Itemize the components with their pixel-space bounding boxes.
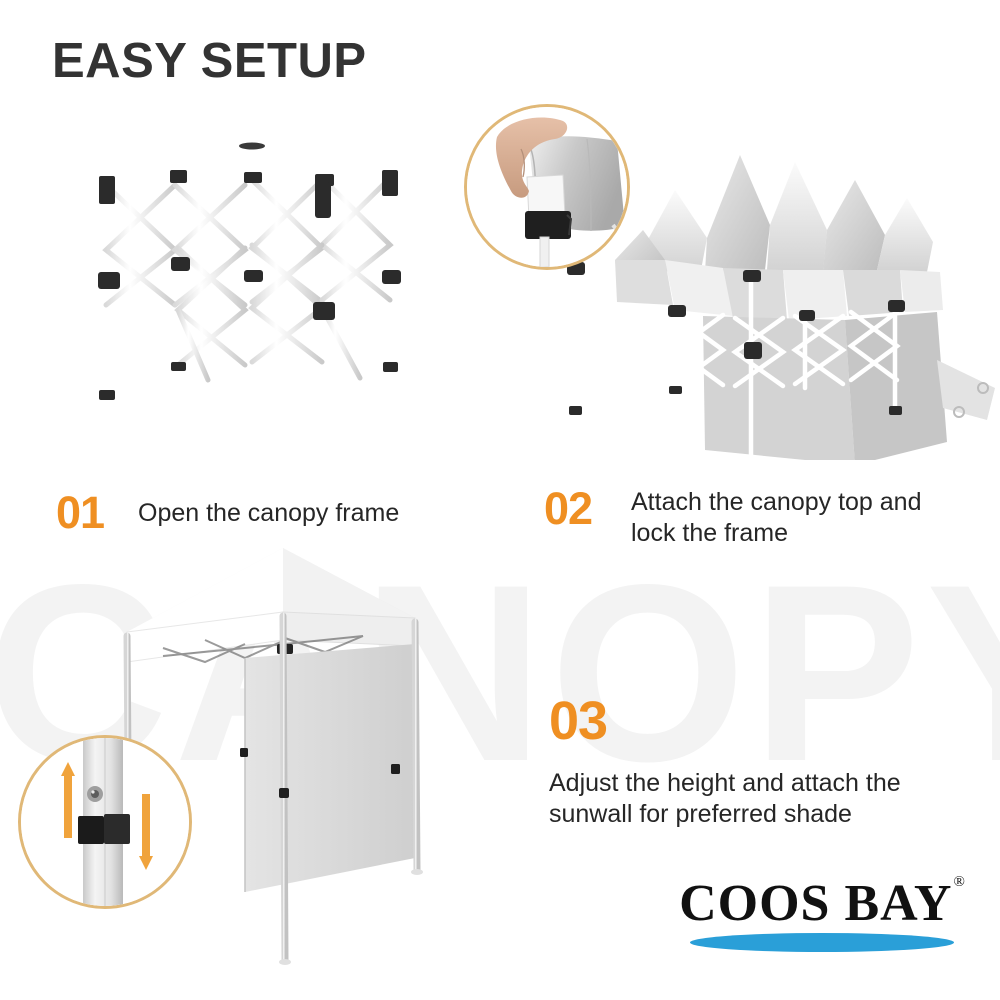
- step-03-detail-circle: [18, 735, 192, 909]
- step-01-image: [60, 130, 440, 450]
- brand-logo: COOS BAY®: [672, 878, 972, 952]
- step-01-number: 01: [56, 487, 104, 539]
- step-03-text-line2: sunwall for preferred shade: [549, 799, 949, 830]
- canopy-side-fabric: [703, 316, 855, 460]
- sunwall-clip: [391, 764, 400, 774]
- step-02-text-line2: lock the frame: [631, 518, 976, 549]
- step-02-text: Attach the canopy top and lock the frame: [631, 487, 976, 548]
- velcro-strap: [525, 211, 571, 239]
- canopy-fabric-peaks: [615, 155, 943, 320]
- brand-name-text: COOS BAY: [679, 875, 952, 932]
- foot: [279, 959, 291, 965]
- pole-clip: [279, 788, 289, 798]
- step-02-number: 02: [544, 483, 592, 535]
- step-01-text-line1: Open the canopy frame: [138, 498, 468, 529]
- step-03-text-line1: Adjust the height and attach the: [549, 768, 949, 799]
- sunwall-fabric: [245, 644, 415, 892]
- page-title: EASY SETUP: [52, 33, 367, 89]
- pole-clip: [240, 748, 248, 757]
- canopy-frame-illustration: [60, 130, 440, 450]
- canopy-corner-flap: [937, 360, 995, 420]
- step-02-text-line1: Attach the canopy top and: [631, 487, 976, 518]
- step-01-text: Open the canopy frame: [138, 498, 468, 529]
- brand-swoosh: [690, 933, 954, 952]
- center-pole-cap: [239, 143, 265, 150]
- step-03-text: Adjust the height and attach the sunwall…: [549, 768, 949, 829]
- height-adjust-collar: [78, 814, 130, 844]
- step-03-number: 03: [549, 690, 607, 752]
- registered-mark: ®: [953, 874, 965, 890]
- hand-velcro-detail-illustration: [467, 107, 627, 267]
- foot: [411, 869, 423, 875]
- brand-name: COOS BAY®: [679, 878, 965, 930]
- step-02-detail-circle: [464, 104, 630, 270]
- height-adjust-detail-illustration: [21, 738, 189, 906]
